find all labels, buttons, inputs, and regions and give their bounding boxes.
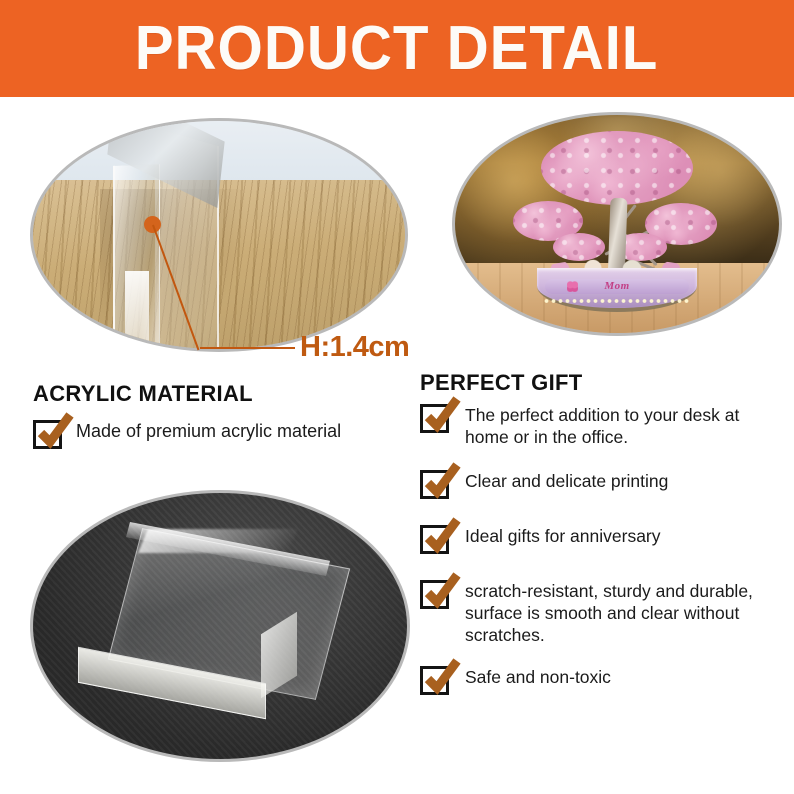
checkbox-icon	[420, 580, 449, 609]
list-item-label: Made of premium acrylic material	[76, 420, 341, 443]
perfect-gift-checklist: The perfect addition to your desk at hom…	[420, 404, 794, 713]
list-item: Clear and delicate printing	[420, 470, 794, 499]
checkbox-icon	[420, 525, 449, 554]
checkbox-icon	[420, 470, 449, 499]
rose-cluster-texture	[541, 131, 693, 205]
list-item: Made of premium acrylic material	[33, 420, 341, 449]
height-callout-label: H:1.4cm	[300, 331, 409, 364]
page-title: PRODUCT DETAIL	[135, 18, 659, 80]
list-item-label: Safe and non-toxic	[465, 666, 611, 688]
check-icon	[422, 573, 462, 613]
butterfly-icon	[567, 281, 578, 292]
checkbox-icon	[420, 404, 449, 433]
checkbox-icon	[420, 666, 449, 695]
photo-acrylic-slab	[30, 490, 410, 762]
list-item-label: The perfect addition to your desk at hom…	[465, 404, 783, 448]
list-item: Ideal gifts for anniversary	[420, 525, 794, 554]
section-heading-perfect-gift: PERFECT GIFT	[420, 370, 583, 396]
rose-canopy-top	[541, 131, 693, 205]
photo-acrylic-edge	[30, 118, 408, 352]
photo-rose-tree-figurine: Mom	[452, 112, 782, 336]
product-detail-infographic: PRODUCT DETAIL H:1.4cm	[0, 0, 794, 794]
acrylic-block-highlight	[125, 271, 149, 349]
check-icon	[35, 413, 75, 453]
list-item-label: Clear and delicate printing	[465, 470, 668, 492]
section-heading-acrylic-material: ACRYLIC MATERIAL	[33, 381, 253, 407]
list-item: The perfect addition to your desk at hom…	[420, 404, 794, 448]
base-name-text: Mom	[604, 280, 629, 292]
check-icon	[422, 397, 462, 437]
list-item-label: Ideal gifts for anniversary	[465, 525, 661, 547]
rose-cluster-texture	[553, 233, 605, 261]
checkbox-icon	[33, 420, 62, 449]
check-icon	[422, 463, 462, 503]
check-icon	[422, 518, 462, 558]
acrylic-slab-gloss	[138, 529, 298, 553]
list-item-label: scratch-resistant, sturdy and durable, s…	[465, 580, 783, 646]
list-item: Safe and non-toxic	[420, 666, 794, 695]
list-item: scratch-resistant, sturdy and durable, s…	[420, 580, 794, 646]
header-banner: PRODUCT DETAIL	[0, 0, 794, 97]
check-icon	[422, 659, 462, 699]
rose-canopy-lower-left	[553, 233, 605, 261]
base-jewel-trim	[543, 298, 691, 304]
callout-leader-line-horizontal	[200, 347, 295, 349]
